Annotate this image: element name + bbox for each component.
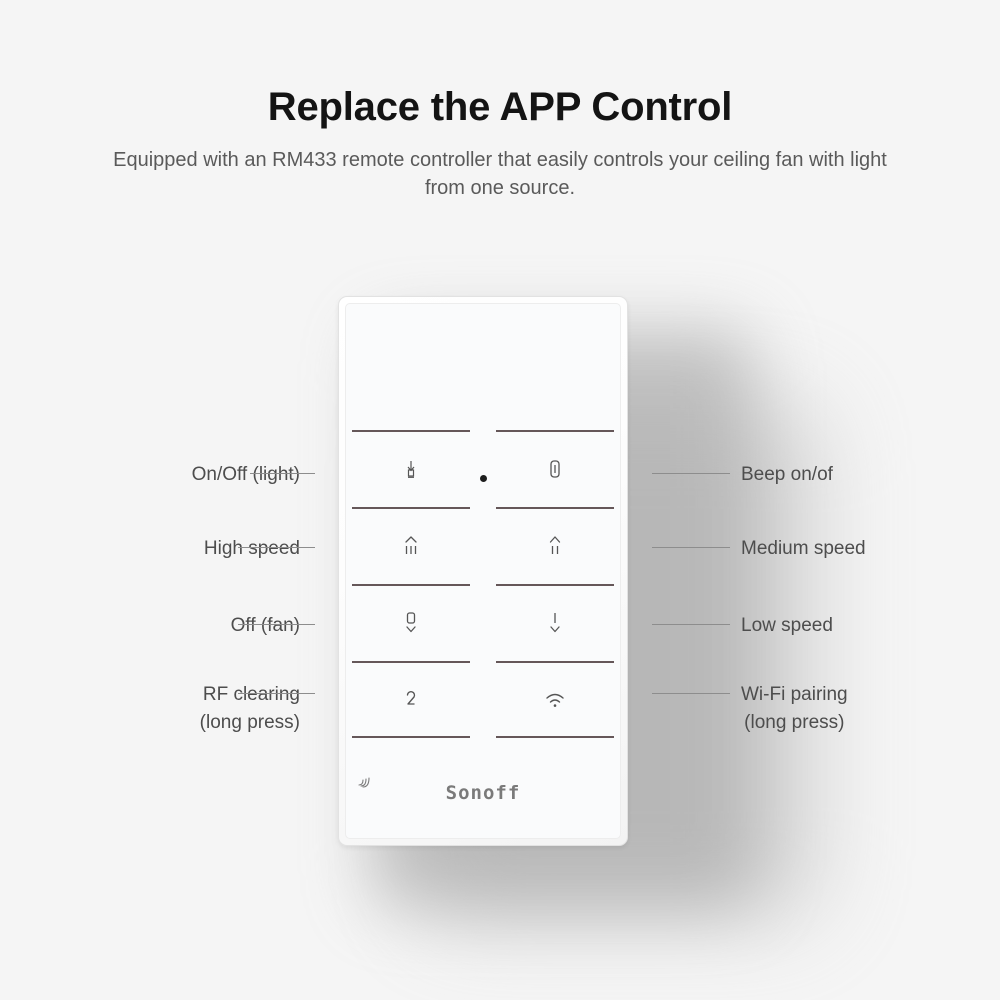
remote-faceplate: Sonoff <box>345 303 621 839</box>
wifi-icon <box>543 690 567 710</box>
signal-waves-icon <box>357 775 371 793</box>
button-row-3 <box>346 584 620 661</box>
leader-line-right-medium-speed <box>652 547 730 548</box>
callout-right-wifi-pairing: Wi-Fi pairing (long press) <box>741 681 848 737</box>
button-row-1 <box>346 430 620 507</box>
page-subtitle: Equipped with an RM433 remote controller… <box>110 146 890 203</box>
callout-label: RF clearing <box>200 681 300 709</box>
callout-sublabel: (long press) <box>200 709 300 737</box>
callout-right-medium-speed: Medium speed <box>741 535 866 563</box>
button-fan-off[interactable] <box>346 584 476 661</box>
button-gap <box>476 430 490 507</box>
leader-line-left-high-speed <box>238 547 315 548</box>
button-grid <box>346 430 620 750</box>
button-wifi-pairing[interactable] <box>490 661 620 738</box>
callout-label: Wi-Fi pairing <box>741 681 848 709</box>
brand-logo: Sonoff <box>346 782 620 804</box>
callout-sublabel: (long press) <box>741 709 848 737</box>
callout-label: High speed <box>204 535 300 563</box>
callout-label: Medium speed <box>741 535 866 563</box>
button-fan-medium-speed[interactable] <box>490 507 620 584</box>
callout-left-high-speed: High speed <box>204 535 300 563</box>
callout-label: Low speed <box>741 612 833 640</box>
fan-high-speed-icon <box>400 534 422 558</box>
header: Replace the APP Control Equipped with an… <box>0 84 1000 203</box>
callout-label: On/Off (light) <box>192 461 300 489</box>
button-fan-high-speed[interactable] <box>346 507 476 584</box>
button-beep-toggle[interactable] <box>490 430 620 507</box>
rm433-remote-device: Sonoff <box>338 296 628 846</box>
leader-line-left-rf-clearing <box>238 693 315 694</box>
button-fan-low-speed[interactable] <box>490 584 620 661</box>
button-gap <box>476 507 490 584</box>
button-light-on-off[interactable] <box>346 430 476 507</box>
button-row-4 <box>346 661 620 738</box>
callout-label: Beep on/of <box>741 461 833 489</box>
beep-toggle-icon <box>548 458 562 480</box>
leader-line-right-beep <box>652 473 730 474</box>
page-title: Replace the APP Control <box>0 84 1000 130</box>
callout-left-light: On/Off (light) <box>192 461 300 489</box>
callout-right-low-speed: Low speed <box>741 612 833 640</box>
leader-line-right-low-speed <box>652 624 730 625</box>
callout-right-beep: Beep on/of <box>741 461 833 489</box>
callout-left-rf-clearing: RF clearing (long press) <box>200 681 300 737</box>
button-gap <box>476 584 490 661</box>
fan-low-speed-icon <box>544 610 566 636</box>
button-rf-clearing[interactable] <box>346 661 476 738</box>
light-on-off-icon <box>402 458 420 480</box>
fan-off-icon <box>400 610 422 636</box>
callout-left-fan-off: Off (fan) <box>231 612 300 640</box>
button-gap <box>476 661 490 738</box>
button-row-2 <box>346 507 620 584</box>
fan-medium-speed-icon <box>544 534 566 558</box>
leader-line-right-wifi-pairing <box>652 693 730 694</box>
leader-line-left-light <box>250 473 315 474</box>
leader-line-left-fan-off <box>238 624 315 625</box>
rf-clearing-icon <box>403 689 419 711</box>
callout-label: Off (fan) <box>231 612 300 640</box>
brand-logo-text: Sonoff <box>446 782 521 804</box>
page-root: Replace the APP Control Equipped with an… <box>0 0 1000 1000</box>
